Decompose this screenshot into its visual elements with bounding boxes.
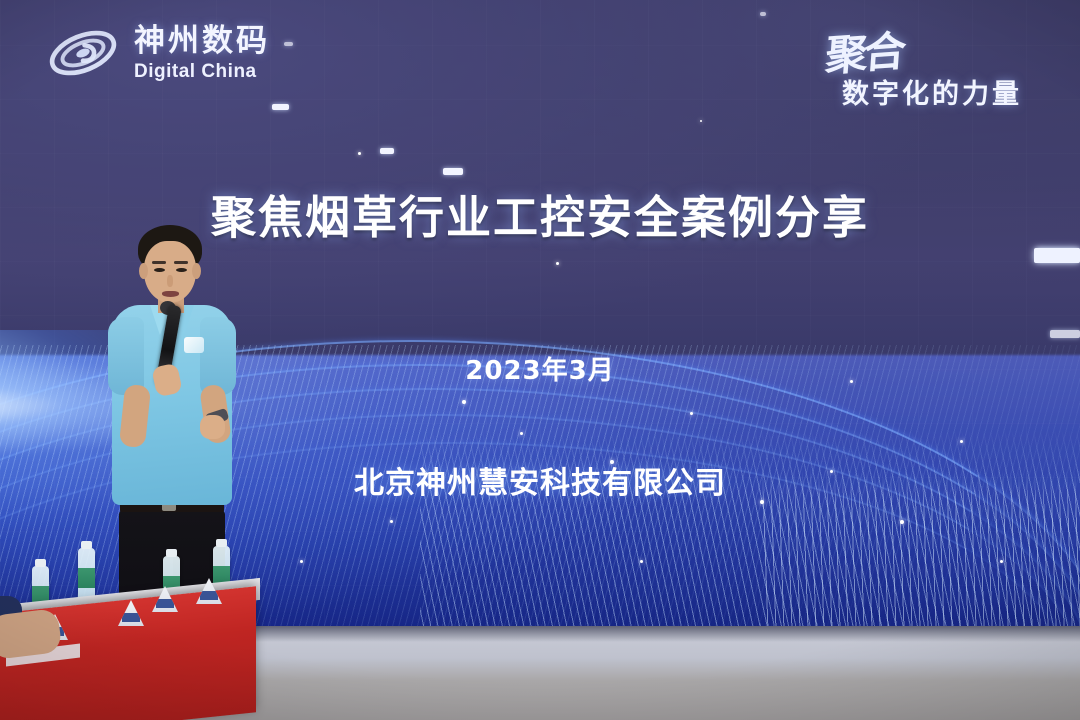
bottle-cap xyxy=(216,539,227,547)
speaker-mouth xyxy=(162,291,179,297)
speaker-eyebrow-left xyxy=(152,261,166,264)
name-card-text xyxy=(122,613,140,622)
name-card-text xyxy=(156,599,174,608)
speaker-ear-left xyxy=(139,263,148,279)
brand-name-cn: 神州数码 xyxy=(134,26,270,57)
particle-dot xyxy=(960,440,963,443)
particle-dash xyxy=(272,104,289,110)
particle-dot xyxy=(358,152,361,155)
bottle-cap xyxy=(35,559,46,567)
bottle-cap xyxy=(166,549,177,557)
particle-dot xyxy=(690,412,693,415)
speaker-sleeve-right xyxy=(200,317,236,395)
particle-dash xyxy=(760,12,766,16)
speaker-sleeve-left xyxy=(108,317,144,395)
speaker-ear-right xyxy=(192,263,201,279)
speaker-eye-right xyxy=(176,268,187,272)
spiral-swoosh-icon xyxy=(44,22,122,84)
bottle-cap xyxy=(81,541,92,549)
speaker-nose xyxy=(167,275,173,287)
edge-light-streak xyxy=(1034,248,1080,263)
particle-dot xyxy=(300,560,303,563)
event-logo-tagline: 数字化的力量 xyxy=(842,72,1022,111)
particle-dash xyxy=(284,42,293,46)
brand-text: 神州数码 Digital China xyxy=(134,26,270,81)
speaker-eye-left xyxy=(154,268,165,272)
particle-dot xyxy=(640,560,643,563)
name-card-text xyxy=(200,591,218,600)
particle-dash xyxy=(443,168,463,175)
event-logo: 聚合 数字化的力量 xyxy=(798,18,1058,114)
particle-dot xyxy=(900,520,904,524)
particle-dot xyxy=(462,400,466,404)
speaker-hand-right xyxy=(200,415,225,439)
particle-dot xyxy=(390,520,393,523)
particle-dot xyxy=(700,120,702,122)
screenshot-root: 神州数码 Digital China 聚合 数字化的力量 聚焦烟草行业工控安全案… xyxy=(0,0,1080,720)
brand-logo: 神州数码 Digital China xyxy=(44,22,270,84)
particle-dot xyxy=(556,262,559,265)
bottle-label xyxy=(78,568,95,588)
particle-dash xyxy=(380,148,394,154)
particle-dot xyxy=(1000,560,1003,563)
brand-name-en: Digital China xyxy=(134,62,270,81)
speaker-shirt-logo xyxy=(184,337,204,353)
speaker-eyebrow-right xyxy=(174,261,188,264)
particle-dash xyxy=(1050,330,1080,338)
particle-dot xyxy=(520,432,523,435)
